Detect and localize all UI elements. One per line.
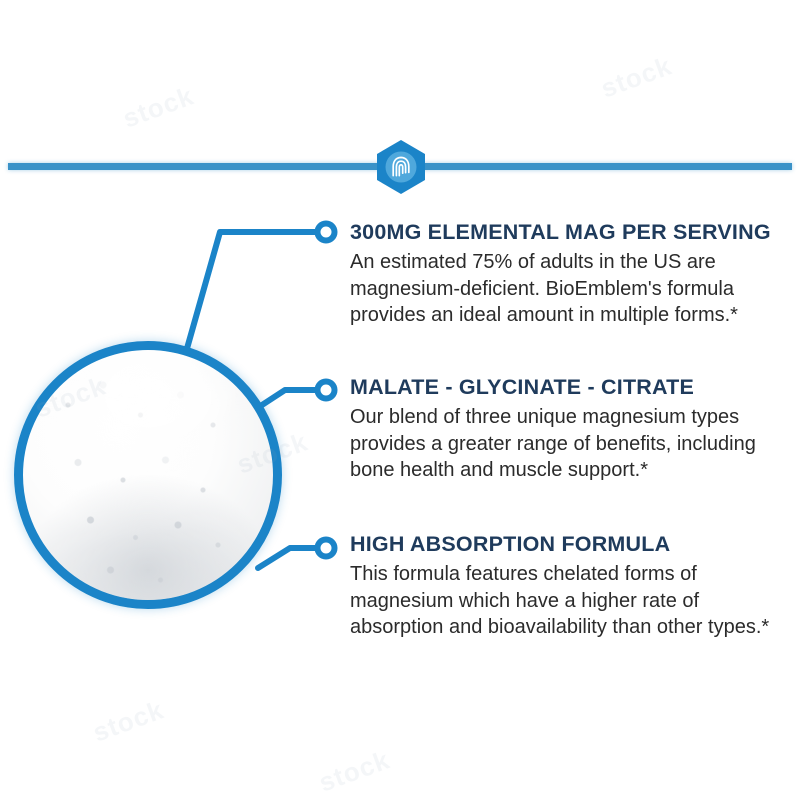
connector-line-2 (262, 390, 320, 405)
watermark-text: stock (119, 80, 198, 134)
powder-shading (23, 350, 273, 600)
callout-block-1: 300MG ELEMENTAL MAG PER SERVING An estim… (350, 220, 790, 329)
watermark-text: stock (89, 694, 168, 748)
watermark-text: stock (315, 744, 394, 798)
connector-line-3 (258, 548, 320, 568)
callout-body-3: This formula features chelated forms of … (350, 561, 790, 641)
callout-body-1: An estimated 75% of adults in the US are… (350, 249, 790, 329)
callout-body-2: Our blend of three unique magnesium type… (350, 404, 790, 484)
watermark-text: stock (597, 50, 676, 104)
callout-block-3: HIGH ABSORPTION FORMULA This formula fea… (350, 532, 790, 641)
callout-heading-2: MALATE - GLYCINATE - CITRATE (350, 375, 790, 399)
callout-block-2: MALATE - GLYCINATE - CITRATE Our blend o… (350, 375, 790, 484)
callout-dot-1 (318, 224, 335, 241)
magnesium-powder-photo (14, 341, 282, 609)
connector-line-1 (186, 232, 320, 352)
connector-dots (318, 224, 335, 557)
callout-dot-2 (318, 382, 335, 399)
fingerprint-hexagon-logo (372, 138, 430, 196)
callout-heading-1: 300MG ELEMENTAL MAG PER SERVING (350, 220, 790, 244)
callout-heading-3: HIGH ABSORPTION FORMULA (350, 532, 790, 556)
product-infographic: stock stock stock stock stock stock (0, 0, 800, 800)
callout-dot-3 (318, 540, 335, 557)
